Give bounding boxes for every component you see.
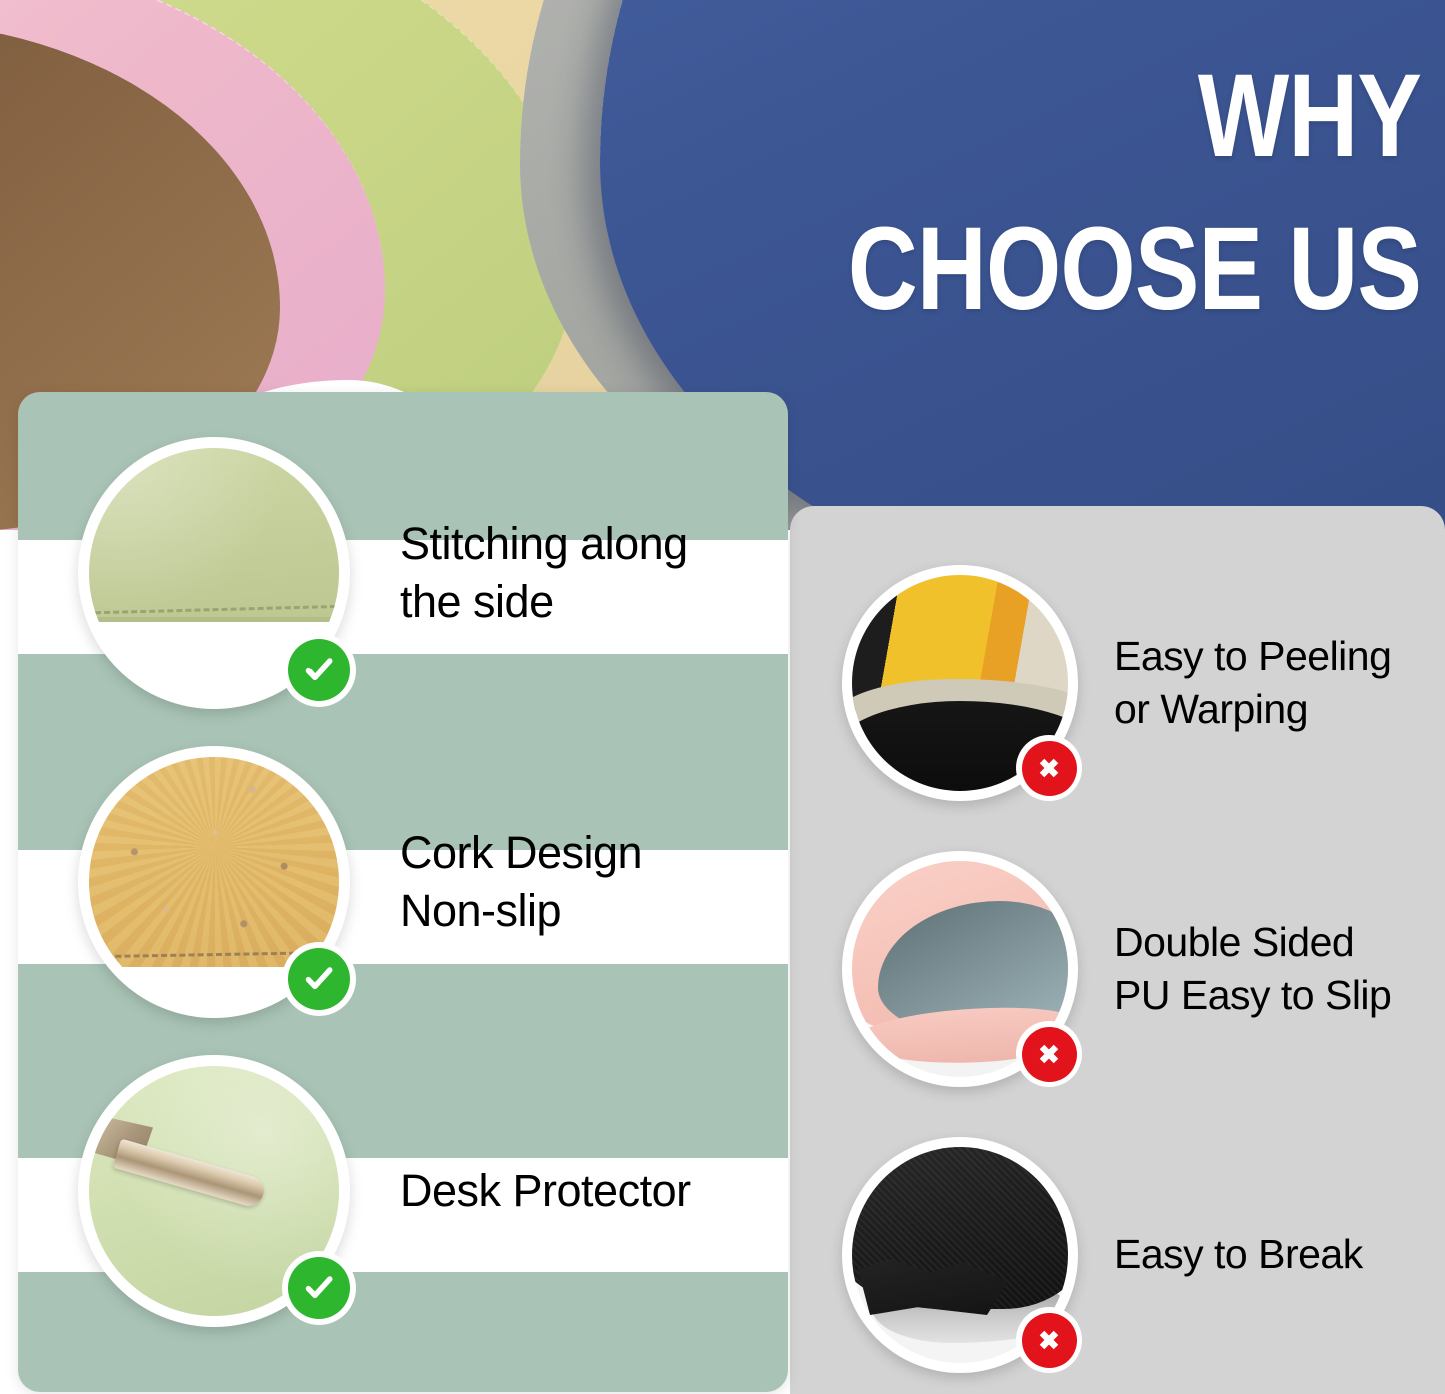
infographic-root: WHY CHOOSE US: [0, 0, 1445, 1394]
pros-label-line-1: Cork Design: [400, 824, 642, 882]
cross-icon: [1016, 735, 1082, 801]
cons-list-item[interactable]: Easy to Peeling or Warping: [790, 560, 1445, 806]
pros-list-item[interactable]: Cork Design Non-slip: [18, 747, 788, 1017]
cons-thumbnail-peeling: [842, 565, 1078, 801]
pros-label-line-2: Non-slip: [400, 882, 642, 940]
cross-icon: [1016, 1307, 1082, 1373]
page-title: WHY CHOOSE US: [722, 62, 1421, 323]
pros-label: Desk Protector: [400, 1162, 691, 1220]
cons-label: Easy to Peeling or Warping: [1114, 630, 1391, 737]
page-title-line-1: WHY: [848, 62, 1421, 171]
pros-thumbnail-cork: [78, 746, 350, 1018]
cons-thumbnail-break: [842, 1137, 1078, 1373]
cons-label-line-2: or Warping: [1114, 683, 1391, 736]
pros-label-line-1: Stitching along: [400, 515, 688, 573]
pros-list-item[interactable]: Desk Protector: [18, 1056, 788, 1326]
cons-panel: Easy to Peeling or Warping: [790, 506, 1445, 1394]
cross-icon: [1016, 1021, 1082, 1087]
cons-label-line-2: PU Easy to Slip: [1114, 969, 1391, 1022]
cons-label-line-1: Easy to Peeling: [1114, 630, 1391, 683]
check-icon: [282, 942, 356, 1016]
page-title-line-2: CHOOSE US: [848, 215, 1421, 324]
pros-label: Cork Design Non-slip: [400, 824, 642, 939]
cons-thumbnail-double-sided-pu: [842, 851, 1078, 1087]
cons-list-item[interactable]: Double Sided PU Easy to Slip: [790, 846, 1445, 1092]
pros-list-item[interactable]: Stitching along the side: [18, 438, 788, 708]
pros-label-line-1: Desk Protector: [400, 1162, 691, 1220]
cons-label: Easy to Break: [1114, 1228, 1363, 1281]
cons-label-line-1: Easy to Break: [1114, 1228, 1363, 1281]
pros-thumbnail-desk-protector: [78, 1055, 350, 1327]
check-icon: [282, 1251, 356, 1325]
pros-label: Stitching along the side: [400, 515, 688, 630]
cons-label-line-1: Double Sided: [1114, 916, 1391, 969]
cons-label: Double Sided PU Easy to Slip: [1114, 916, 1391, 1023]
pros-panel: Stitching along the side: [18, 392, 788, 1392]
check-icon: [282, 633, 356, 707]
pros-label-line-2: the side: [400, 573, 688, 631]
pros-thumbnail-stitching: [78, 437, 350, 709]
cons-list-item[interactable]: Easy to Break: [790, 1132, 1445, 1378]
